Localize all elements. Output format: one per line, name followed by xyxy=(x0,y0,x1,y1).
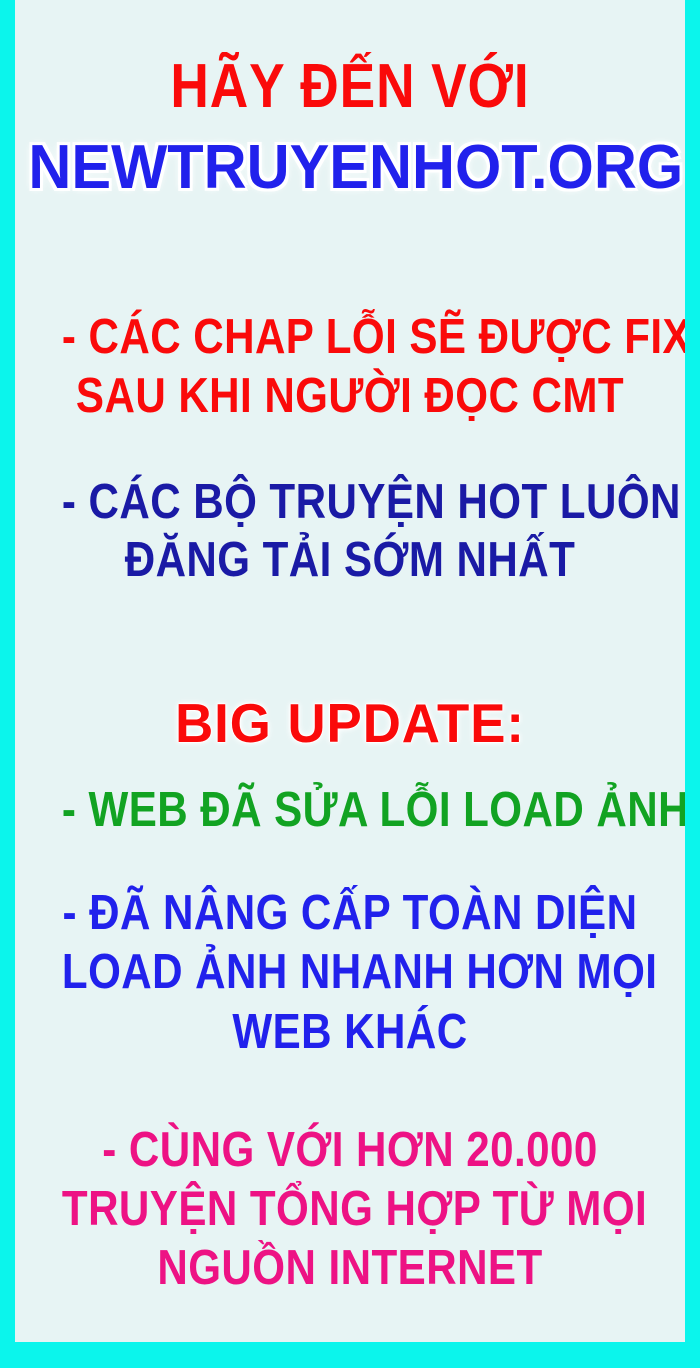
notice-red-line1: - CÁC CHAP LỖI SẼ ĐƯỢC FIX xyxy=(62,313,638,362)
promo-poster: HÃY ĐẾN VỚI NEWTRUYENHOT.ORG - CÁC CHAP … xyxy=(0,0,700,1368)
big-update-title: BIG UPDATE: xyxy=(28,696,671,751)
site-name-heading[interactable]: NEWTRUYENHOT.ORG xyxy=(28,137,671,199)
poster-inner-panel: HÃY ĐẾN VỚI NEWTRUYENHOT.ORG - CÁC CHAP … xyxy=(15,0,685,1342)
update-blue-line1: - ĐÃ NÂNG CẤP TOÀN DIỆN xyxy=(62,889,638,938)
update-blue-line2: LOAD ẢNH NHANH HƠN MỌI xyxy=(62,948,638,997)
update-pink-line1: - CÙNG VỚI HƠN 20.000 xyxy=(62,1126,638,1175)
update-blue-line3: WEB KHÁC xyxy=(62,1008,638,1057)
update-pink-line3: NGUỒN INTERNET xyxy=(62,1244,638,1293)
update-pink-line2: TRUYỆN TỔNG HỢP TỪ MỌI xyxy=(62,1185,638,1234)
notice-red-line2: SAU KHI NGƯỜI ĐỌC CMT xyxy=(62,372,638,421)
notice-navy-line2: ĐĂNG TẢI SỚM NHẤT xyxy=(62,536,638,585)
update-green-line1: - WEB ĐÃ SỬA LỖI LOAD ẢNH xyxy=(62,786,638,835)
hero-heading-line1: HÃY ĐẾN VỚI xyxy=(62,56,638,118)
notice-navy-line1: - CÁC BỘ TRUYỆN HOT LUÔN xyxy=(62,478,638,527)
